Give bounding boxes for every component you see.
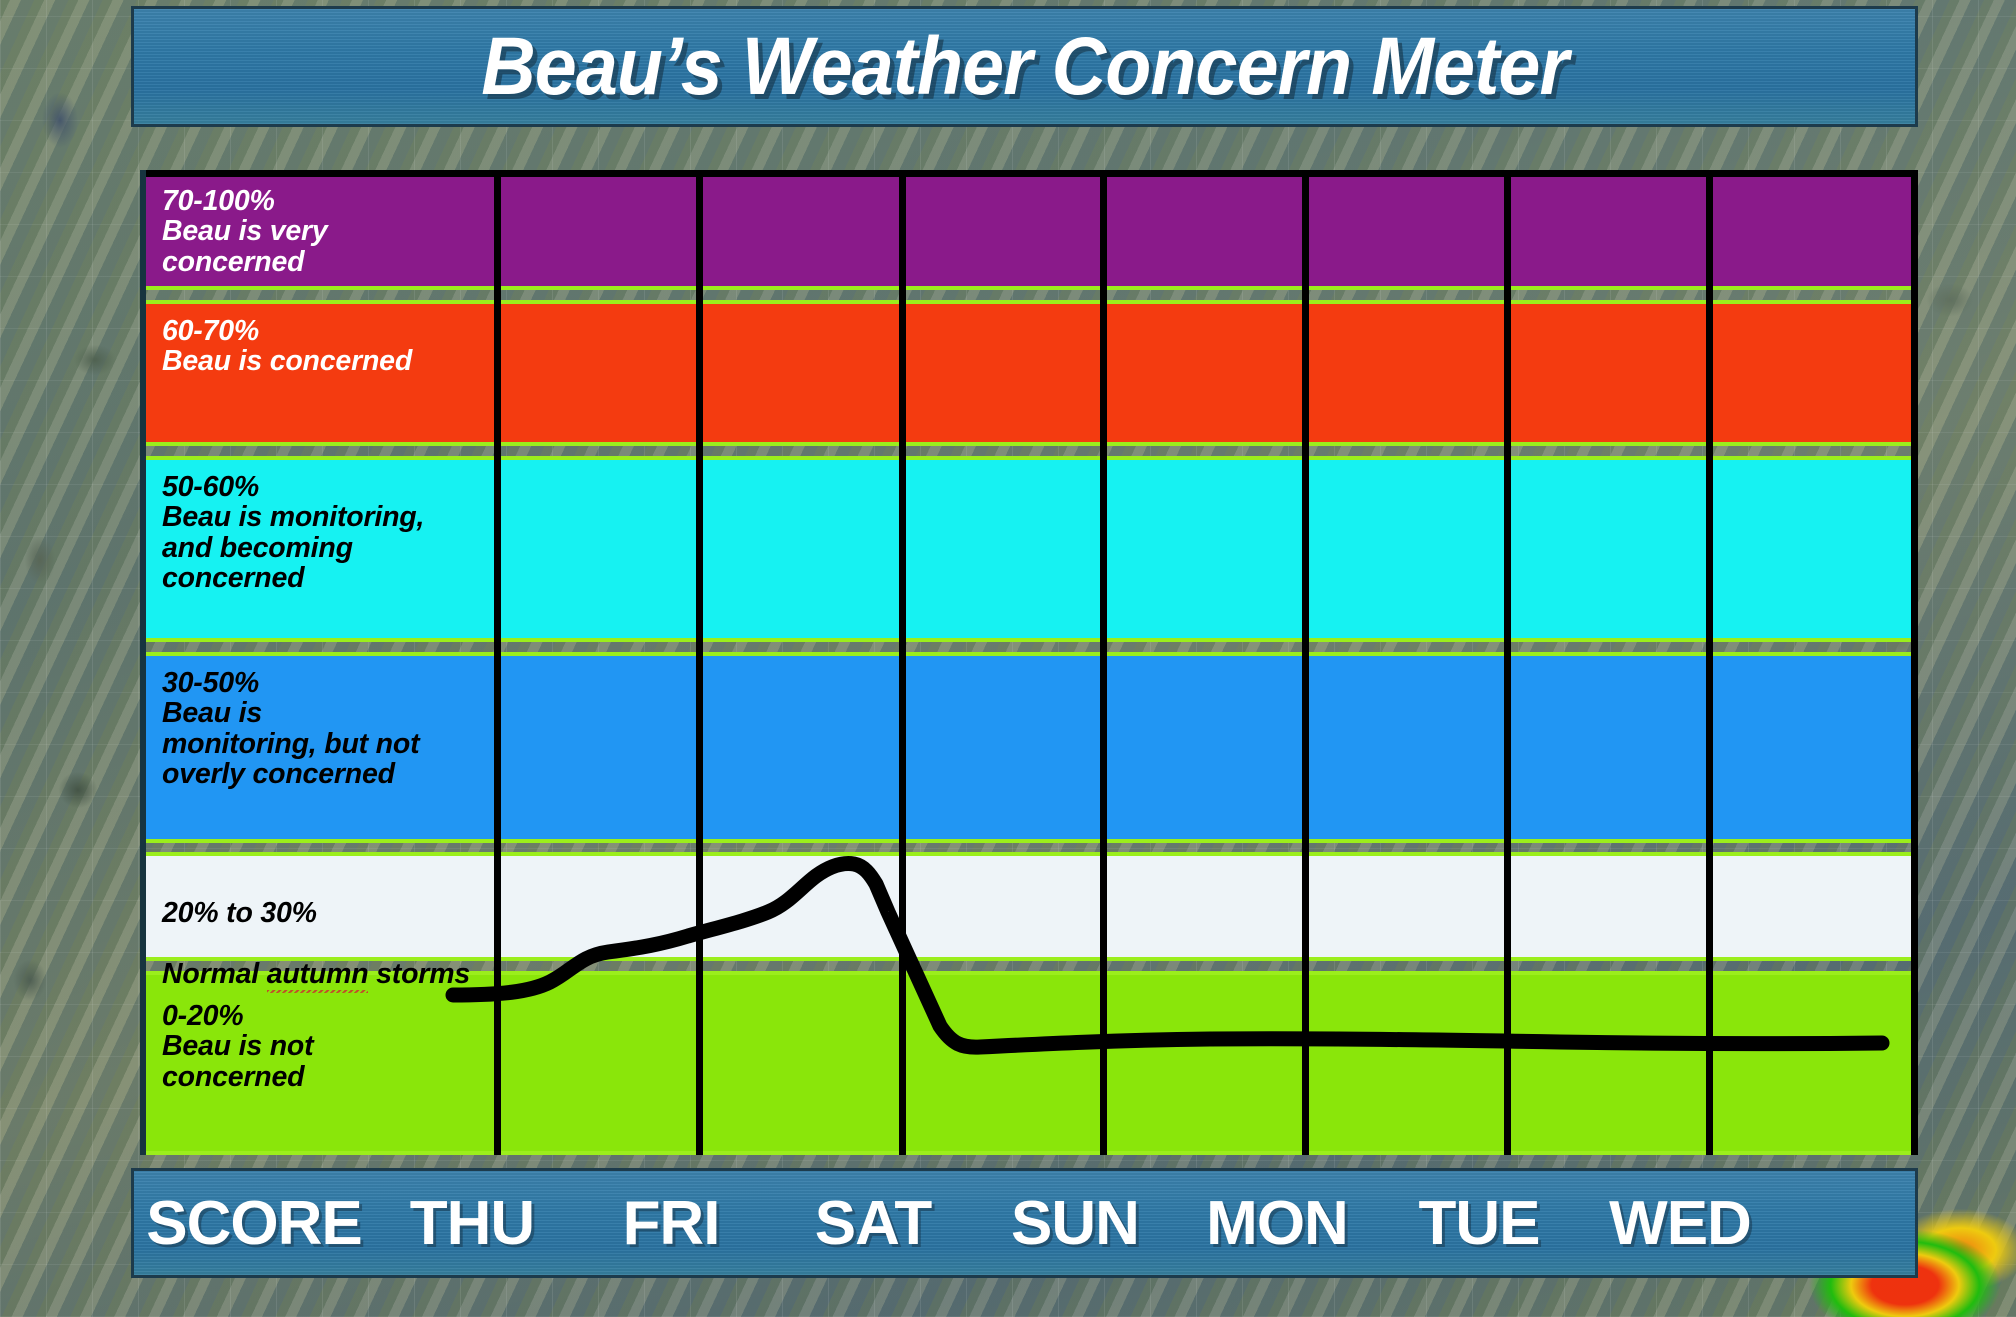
band-50-60: 50-60%Beau is monitoring, and becoming c… (140, 456, 1918, 642)
band-note-20-30: Normal autumn storms (162, 958, 470, 993)
band-label-60-70: 60-70%Beau is concerned (162, 316, 412, 377)
band-label-0-20: 0-20%Beau is not concerned (162, 1001, 313, 1092)
title-bar: Beau’s Weather Concern Meter (131, 6, 1918, 127)
band-60-70: 60-70%Beau is concerned (140, 300, 1918, 446)
band-0-20: 0-20%Beau is not concerned (140, 971, 1918, 1155)
gridline-tue (1706, 170, 1713, 1155)
weather-graphic: Beau’s Weather Concern Meter 70-100%Beau… (0, 0, 2016, 1317)
band-label-70-100: 70-100%Beau is very concerned (162, 186, 328, 277)
axis-label-score: SCORE (134, 1188, 374, 1259)
band-70-100: 70-100%Beau is very concerned (140, 170, 1918, 290)
gridline-sat (1100, 170, 1107, 1155)
gridline-mon (1504, 170, 1511, 1155)
axis-label-thu: THU (374, 1188, 570, 1259)
band-30-50: 30-50%Beau is monitoring, but not overly… (140, 652, 1918, 843)
gridline-sun (1302, 170, 1309, 1155)
axis-label-mon: MON (1176, 1188, 1378, 1259)
chart-frame-top (140, 170, 1918, 177)
band-label-50-60: 50-60%Beau is monitoring, and becoming c… (162, 472, 424, 594)
chart-frame-left (140, 170, 146, 1155)
axis-label-sun: SUN (974, 1188, 1176, 1259)
page-title: Beau’s Weather Concern Meter (481, 20, 1568, 114)
axis-label-sat: SAT (772, 1188, 974, 1259)
chart-frame-right (1911, 170, 1918, 1155)
axis-label-fri: FRI (570, 1188, 772, 1259)
band-20-30: 20% to 30% Normal autumn storms (140, 852, 1918, 961)
day-axis-bar: SCORE THU FRI SAT SUN MON TUE WED (131, 1168, 1918, 1278)
axis-label-tue: TUE (1378, 1188, 1580, 1259)
gridline-fri (899, 170, 906, 1155)
gridline-thu (696, 170, 703, 1155)
band-label-30-50: 30-50%Beau is monitoring, but not overly… (162, 668, 419, 790)
concern-meter-chart: 70-100%Beau is very concerned 60-70%Beau… (140, 170, 1918, 1155)
gridline-score (494, 170, 501, 1155)
spellcheck-word: autumn (267, 958, 369, 993)
band-label-20-30: 20% to 30% Normal autumn storms (162, 868, 470, 990)
axis-label-wed: WED (1580, 1188, 1780, 1259)
